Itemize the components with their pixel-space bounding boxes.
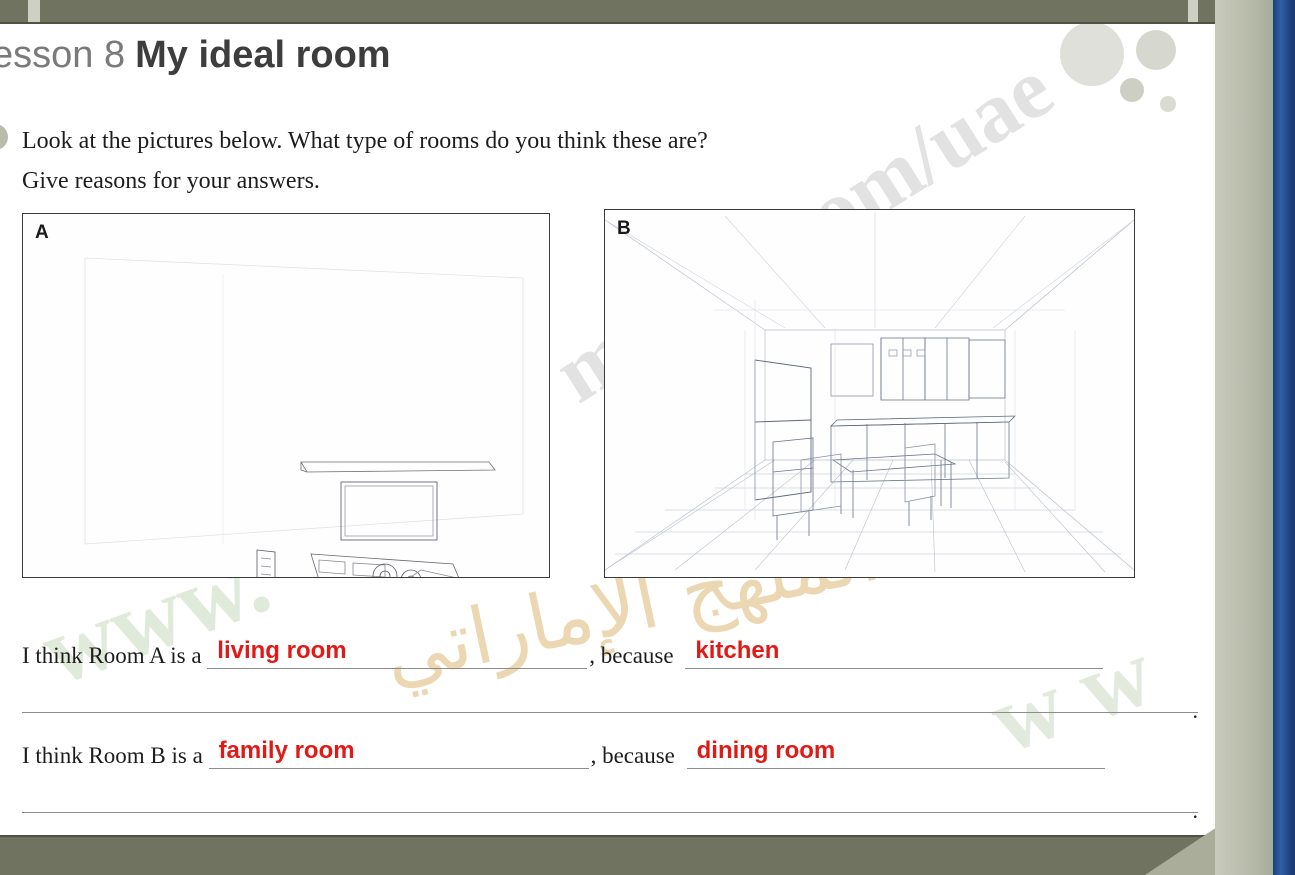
answer-a-continuation-line[interactable]: .	[22, 712, 1198, 713]
figure-b-label: B	[617, 218, 631, 240]
decorative-blob	[1120, 78, 1144, 102]
decorative-blob	[1160, 96, 1176, 112]
answer-b-handwriting: family room	[219, 737, 355, 765]
answer-b-continuation-line[interactable]: .	[22, 812, 1198, 813]
answer-b-prefix: I think Room B is a	[22, 743, 203, 769]
answer-row-b: I think Room B is a family room , becaus…	[22, 742, 1202, 769]
page-bottom-border	[0, 835, 1215, 875]
figure-a-sketch	[23, 214, 549, 577]
answer-a-connector: , because	[589, 643, 673, 668]
page-right-blue-edge	[1273, 0, 1295, 875]
binding-notch	[28, 0, 40, 22]
answer-a-prefix: I think Room A is a	[22, 643, 202, 669]
decorative-blob	[1136, 30, 1176, 70]
page-top-border-inner	[0, 0, 1216, 24]
instruction-line-1: Look at the pictures below. What type of…	[22, 122, 1022, 162]
figure-a: A	[22, 213, 550, 578]
reason-b-input[interactable]: dining room	[687, 742, 1105, 769]
page-title: esson 8My ideal room	[0, 34, 391, 77]
figure-b-sketch	[605, 210, 1134, 577]
answer-a-period: .	[1193, 698, 1199, 724]
instruction-text: Look at the pictures below. What type of…	[22, 122, 1022, 201]
decorative-blob	[1060, 22, 1124, 86]
reason-a-handwriting: kitchen	[695, 637, 779, 665]
lesson-title: My ideal room	[135, 34, 391, 76]
answer-a-input[interactable]: living room	[207, 642, 587, 669]
reason-b-handwriting: dining room	[697, 737, 836, 765]
answer-b-input[interactable]: family room	[209, 742, 589, 769]
reason-a-input[interactable]: kitchen	[685, 642, 1103, 669]
figure-a-label: A	[35, 222, 49, 244]
answer-row-a: I think Room A is a living room , becaus…	[22, 642, 1202, 669]
worksheet-page: www. mnahj.com/uae w w المنهج الإماراتي …	[0, 0, 1295, 875]
answer-a-handwriting: living room	[217, 637, 346, 665]
figure-b: B	[604, 209, 1135, 578]
page-top-border	[0, 0, 1295, 22]
lesson-label: esson 8	[0, 34, 125, 76]
instruction-line-2: Give reasons for your answers.	[22, 162, 1022, 202]
binding-notch	[1188, 0, 1198, 22]
answer-b-connector: , because	[591, 743, 675, 768]
